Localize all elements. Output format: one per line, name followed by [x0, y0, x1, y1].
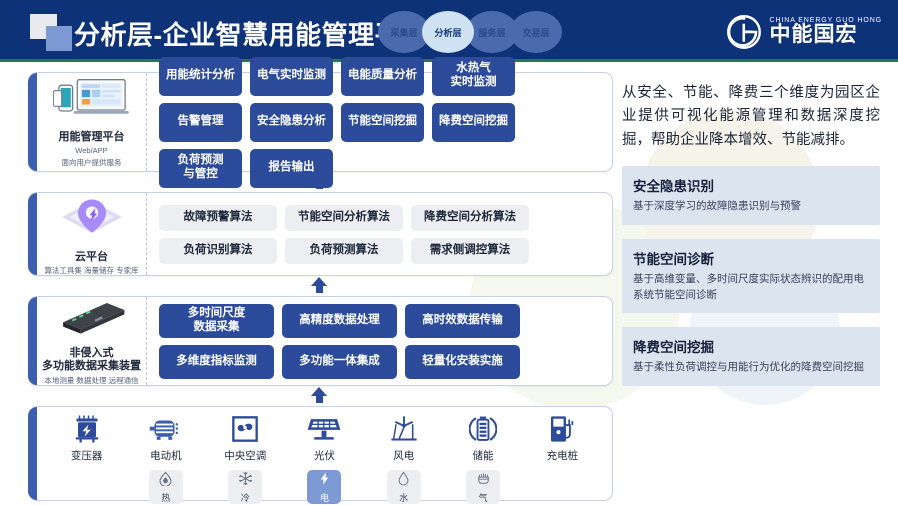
band-tile-grid: 多时间尺度数据采集高精度数据处理高时效数据传输多维度指标监测多功能一体集成轻量化…: [147, 297, 612, 385]
energy-badge-label: 气: [479, 491, 488, 504]
logo-text: CHINA ENERGY GUO HONG 中能国宏: [769, 17, 882, 46]
stage-circle-label: 交易层: [522, 26, 549, 39]
feature-card-title: 降费空间挖掘: [633, 336, 869, 356]
capability-tile[interactable]: 水热气实时监测: [432, 57, 515, 96]
band-accent-bar: [28, 193, 37, 275]
feature-card-title: 节能空间诊断: [633, 248, 869, 268]
band-body: 用能管理平台Web/APP面向用户提供服务用能统计分析电气实时监测电能质量分析水…: [28, 72, 613, 172]
cold-icon: [238, 471, 253, 491]
band-icon-sub-1: 本地测量 数据处理 远程通信: [44, 376, 138, 386]
band-icon-sub-1: Web/APP: [75, 146, 107, 156]
device-label: 充电桩: [547, 448, 579, 463]
capability-tile[interactable]: 降费空间分析算法: [411, 205, 529, 231]
feature-card-desc: 基于深度学习的故障隐患识别与预警: [633, 198, 869, 214]
device-label: 电动机: [150, 448, 182, 463]
band-icon-sub-2: 面向用户提供服务: [62, 158, 122, 168]
capability-tile[interactable]: 多时间尺度数据采集: [159, 304, 274, 338]
right-panel: 从安全、节能、降费三个维度为园区企业提供可视化能源管理和数据深度挖掘，帮助企业降…: [622, 82, 880, 386]
company-logo: CHINA ENERGY GUO HONG 中能国宏: [726, 12, 882, 52]
transformer-icon: [72, 413, 102, 445]
capability-tile[interactable]: 多维度指标监测: [159, 345, 274, 379]
energy-badge[interactable]: 水: [387, 470, 421, 504]
band-accent-bar: [28, 297, 37, 385]
device-inner: 变压器 电动机 热 中央空调 冷 光伏: [37, 407, 612, 500]
band-tile-grid: 用能统计分析电气实时监测电能质量分析水热气实时监测告警管理安全隐患分析节能空间挖…: [147, 73, 612, 171]
band-tile-grid: 故障预警算法节能空间分析算法降费空间分析算法负荷识别算法负荷预测算法需求侧调控算…: [147, 193, 612, 275]
device-item[interactable]: 中央空调 冷: [209, 413, 281, 504]
energy-badge[interactable]: 热: [149, 470, 183, 504]
band-accent-bar: [28, 407, 37, 500]
logo-cn-text: 中能国宏: [769, 24, 882, 46]
device-item[interactable]: 充电桩: [526, 413, 598, 504]
intro-paragraph: 从安全、节能、降费三个维度为园区企业提供可视化能源管理和数据深度挖掘，帮助企业降…: [622, 82, 880, 152]
capability-tile[interactable]: 用能统计分析: [159, 57, 242, 96]
solar-panel-icon: [306, 413, 342, 445]
device-label: 中央空调: [224, 448, 266, 463]
cloud-platform-icon: [57, 192, 127, 247]
stage-circle-2[interactable]: 分析层: [422, 11, 474, 53]
energy-badge-label: 水: [399, 491, 408, 504]
capability-tile[interactable]: 安全隐患分析: [250, 103, 333, 142]
header-square-blue: [46, 26, 72, 51]
flow-arrow-row: [28, 172, 613, 192]
capability-tile[interactable]: 负荷预测算法: [285, 238, 403, 264]
data-collector-device-icon: [54, 296, 130, 343]
energy-badge[interactable]: 冷: [228, 470, 262, 504]
capability-tile[interactable]: 电能质量分析: [341, 57, 424, 96]
feature-card-3[interactable]: 降费空间挖掘基于柔性负荷调控与用能行为优化的降费空间挖掘: [622, 327, 880, 385]
band-icon-cell: 用能管理平台Web/APP面向用户提供服务: [37, 73, 147, 171]
device-row: 变压器 电动机 热 中央空调 冷 光伏: [37, 413, 612, 504]
gas-icon: [476, 471, 491, 491]
page-title: 分析层-企业智慧用能管理平台: [74, 15, 428, 52]
stage-circle-4[interactable]: 交易层: [510, 11, 562, 53]
feature-card-list: 安全隐患识别基于深度学习的故障隐患识别与预警节能空间诊断基于高维变量、多时间尺度…: [622, 166, 880, 385]
device-label: 风电: [393, 448, 414, 463]
laptop-dashboard-icon: [53, 76, 131, 127]
architecture-stack: 用能管理平台Web/APP面向用户提供服务用能统计分析电气实时监测电能质量分析水…: [28, 72, 613, 501]
feature-card-desc: 基于柔性负荷调控与用能行为优化的降费空间挖掘: [633, 359, 869, 375]
energy-badge-placeholder: [70, 470, 104, 504]
stage-circle-group: 采集层分析层服务层交易层: [378, 11, 554, 53]
device-item[interactable]: 变压器: [51, 413, 123, 504]
capability-tile[interactable]: 降费空间挖掘: [432, 103, 515, 142]
motor-icon: [149, 413, 183, 445]
heat-icon: [158, 471, 173, 491]
layer-band-1: 用能管理平台Web/APP面向用户提供服务用能统计分析电气实时监测电能质量分析水…: [28, 72, 613, 172]
energy-badge-placeholder: [545, 470, 579, 504]
energy-badge[interactable]: 气: [466, 470, 500, 504]
feature-card-1[interactable]: 安全隐患识别基于深度学习的故障隐患识别与预警: [622, 166, 880, 224]
device-item[interactable]: 风电 水: [368, 413, 440, 504]
device-item[interactable]: 电动机 热: [130, 413, 202, 504]
stage-circle-label: 采集层: [390, 26, 417, 39]
capability-tile[interactable]: 多功能一体集成: [282, 345, 397, 379]
band-icon-title: 云平台: [75, 251, 108, 265]
capability-tile[interactable]: 电气实时监测: [250, 57, 333, 96]
energy-badge-label: 冷: [241, 491, 250, 504]
page-header: 分析层-企业智慧用能管理平台 采集层分析层服务层交易层 CHINA ENERGY…: [0, 0, 898, 62]
flow-arrow-row: [28, 276, 613, 296]
energy-badge[interactable]: 电: [307, 470, 341, 504]
capability-tile[interactable]: 高时效数据传输: [405, 304, 520, 338]
band-icon-title: 用能管理平台: [59, 131, 125, 145]
device-label: 储能: [473, 448, 494, 463]
flow-arrow-row: [28, 386, 613, 406]
slide-root: 分析层-企业智慧用能管理平台 采集层分析层服务层交易层 CHINA ENERGY…: [0, 0, 898, 505]
layer-band-3: 非侵入式多功能数据采集装置本地测量 数据处理 远程通信多时间尺度数据采集高精度数…: [28, 296, 613, 386]
capability-tile[interactable]: 需求侧调控算法: [411, 238, 529, 264]
device-band: 变压器 电动机 热 中央空调 冷 光伏: [28, 406, 613, 501]
ev-charger-icon: [547, 413, 577, 445]
hvac-icon: [231, 413, 259, 445]
wind-turbine-icon: [388, 413, 420, 445]
capability-tile[interactable]: 高精度数据处理: [282, 304, 397, 338]
band-icon-cell: 云平台算法工具集 海量储存 专家库: [37, 193, 147, 275]
band-icon-sub-1: 算法工具集 海量储存 专家库: [44, 266, 138, 276]
battery-icon: [469, 413, 497, 445]
band-icon-title: 非侵入式多功能数据采集装置: [42, 347, 141, 375]
layer-band-2: 云平台算法工具集 海量储存 专家库故障预警算法节能空间分析算法降费空间分析算法负…: [28, 192, 613, 276]
logo-mark-icon: [726, 14, 762, 50]
capability-tile[interactable]: 告警管理: [159, 103, 242, 142]
device-item[interactable]: 储能 气: [447, 413, 519, 504]
feature-card-title: 安全隐患识别: [633, 175, 869, 195]
capability-tile[interactable]: 轻量化安装实施: [405, 345, 520, 379]
band-body: 非侵入式多功能数据采集装置本地测量 数据处理 远程通信多时间尺度数据采集高精度数…: [28, 296, 613, 386]
capability-tile[interactable]: 故障预警算法: [159, 205, 277, 231]
bolt-icon: [317, 471, 332, 491]
band-body: 云平台算法工具集 海量储存 专家库故障预警算法节能空间分析算法降费空间分析算法负…: [28, 192, 613, 276]
device-label: 光伏: [314, 448, 335, 463]
energy-badge-label: 电: [320, 491, 329, 504]
capability-tile[interactable]: 节能空间分析算法: [285, 205, 403, 231]
stage-circle-label: 分析层: [434, 26, 461, 39]
capability-tile[interactable]: 负荷识别算法: [159, 238, 277, 264]
band-accent-bar: [28, 73, 37, 171]
feature-card-2[interactable]: 节能空间诊断基于高维变量、多时间尺度实际状态辨识的配用电系统节能空间诊断: [622, 239, 880, 314]
device-label: 变压器: [71, 448, 103, 463]
stage-circle-label: 服务层: [478, 26, 505, 39]
capability-tile[interactable]: 节能空间挖掘: [341, 103, 424, 142]
feature-card-desc: 基于高维变量、多时间尺度实际状态辨识的配用电系统节能空间诊断: [633, 271, 869, 304]
water-icon: [396, 471, 411, 491]
energy-badge-label: 热: [161, 491, 170, 504]
device-item[interactable]: 光伏 电: [288, 413, 360, 504]
band-icon-cell: 非侵入式多功能数据采集装置本地测量 数据处理 远程通信: [37, 297, 147, 385]
